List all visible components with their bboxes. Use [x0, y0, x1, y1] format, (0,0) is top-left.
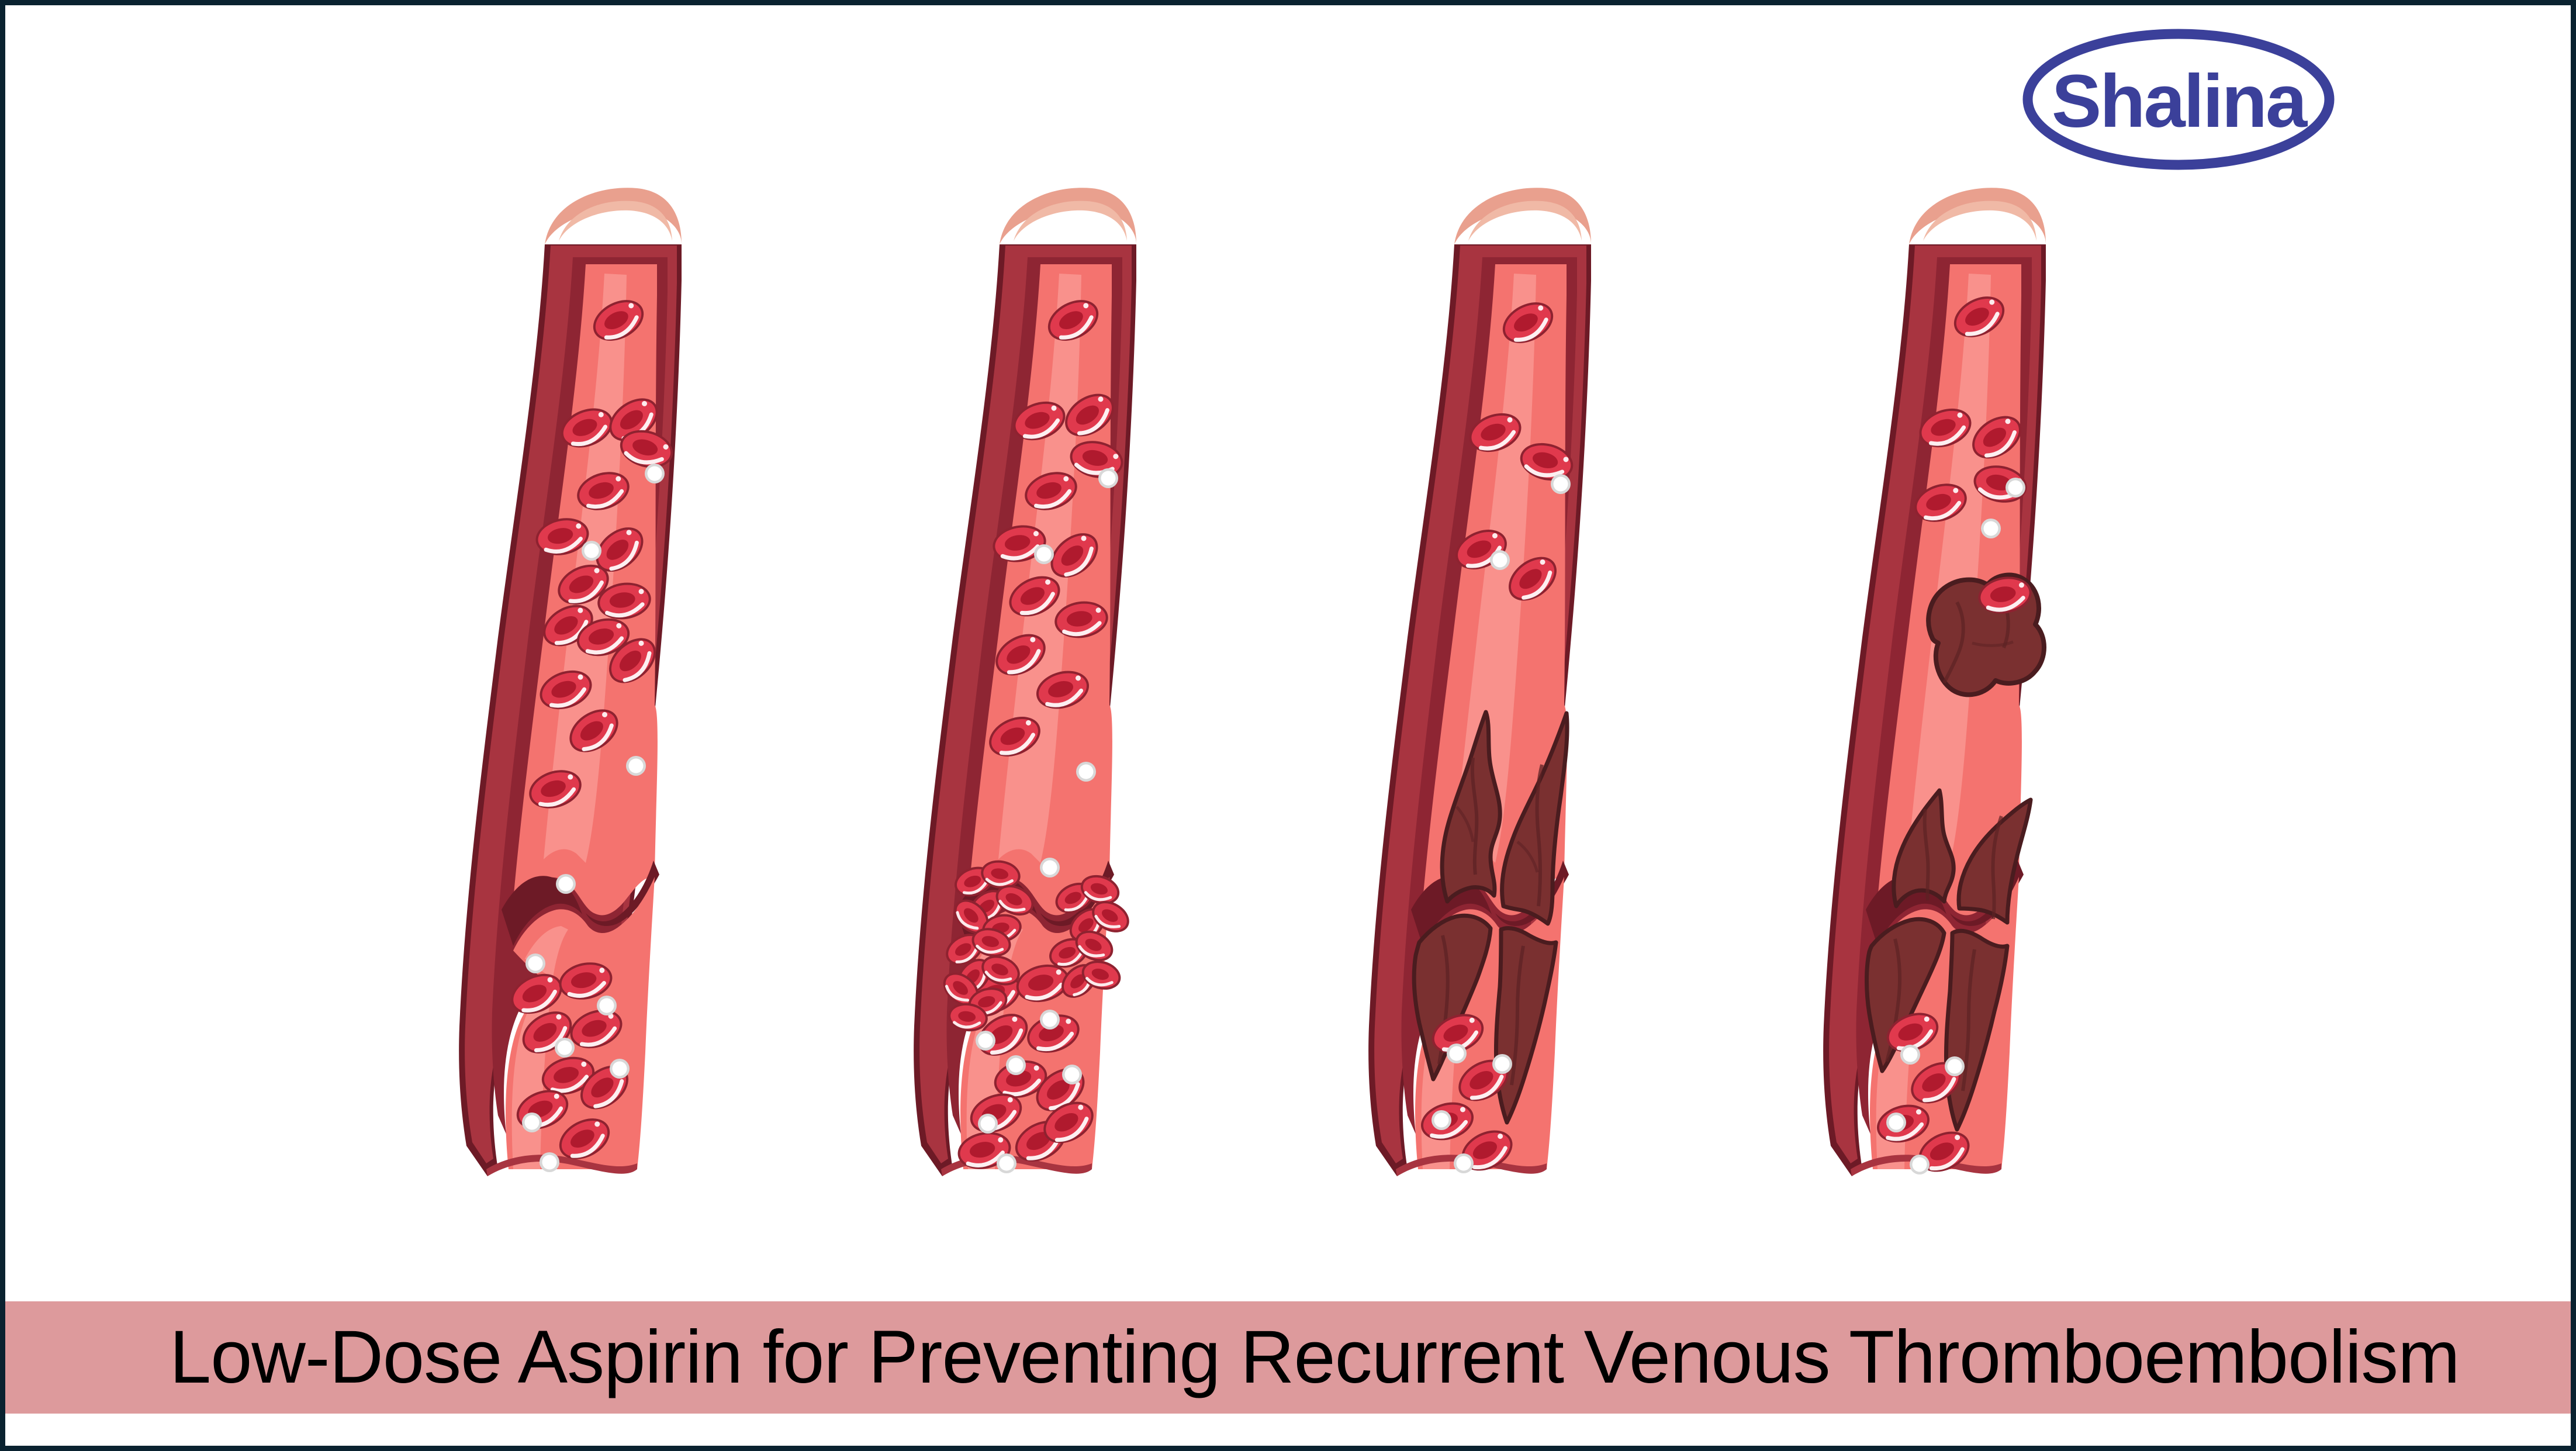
vein-panel-2-aggregation: [914, 188, 1136, 1176]
poster-canvas: Shalina: [0, 0, 2576, 1451]
vein-panel-3-thrombus: [1368, 188, 1591, 1179]
vein-panel-1-normal: [459, 188, 682, 1176]
shalina-logo-svg: Shalina: [2020, 26, 2338, 172]
logo-wordmark: Shalina: [2052, 60, 2308, 143]
title-banner: Low-Dose Aspirin for Preventing Recurren…: [5, 1301, 2571, 1414]
vein-thrombosis-illustration: [0, 175, 2576, 1245]
shalina-logo: Shalina: [2020, 26, 2338, 172]
vein-panel-4-embolus: [1823, 188, 2046, 1180]
vein-panels-svg: [0, 175, 2576, 1245]
poster-title: Low-Dose Aspirin for Preventing Recurren…: [5, 1320, 2460, 1395]
